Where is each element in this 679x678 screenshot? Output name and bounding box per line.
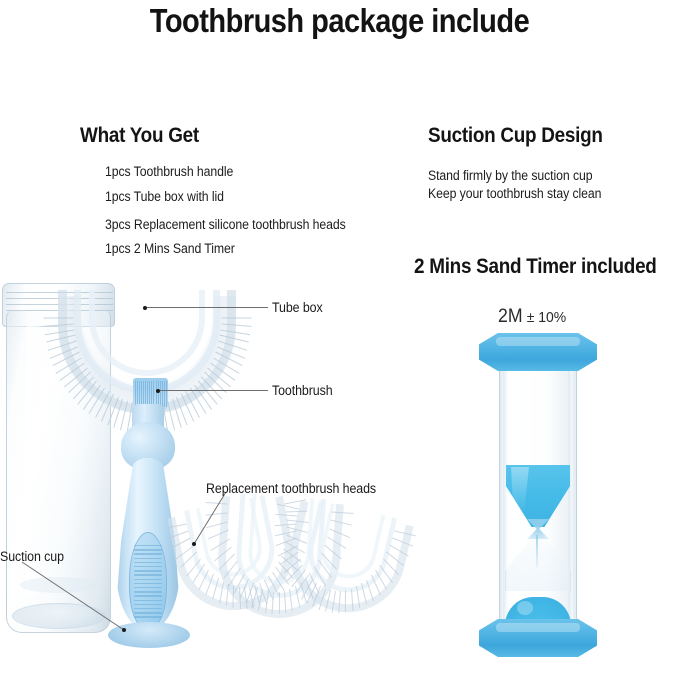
what-you-get-heading: What You Get <box>80 124 199 148</box>
sand-timer-spec-value: 2M <box>498 306 523 327</box>
what-you-get-item-3: 3pcs Replacement silicone toothbrush hea… <box>105 217 346 232</box>
hourglass-sand-stream <box>536 535 538 567</box>
what-you-get-item-2: 1pcs Tube box with lid <box>105 189 224 204</box>
hourglass-bottom-cap <box>479 619 597 657</box>
what-you-get-item-1: 1pcs Toothbrush handle <box>105 164 233 179</box>
callout-label-toothbrush: Toothbrush <box>272 383 333 398</box>
handle-grip <box>129 532 167 628</box>
callout-label-tube-box: Tube box <box>272 300 323 315</box>
product-infographic: Toothbrush package include What You Get … <box>0 0 679 678</box>
suction-cup-design-line-2: Keep your toothbrush stay clean <box>428 186 601 201</box>
callout-dot-replacement-heads <box>192 542 196 546</box>
sand-timer-heading: 2 Mins Sand Timer included <box>414 255 657 279</box>
callout-label-suction-cup: Suction cup <box>0 549 64 564</box>
callout-line-toothbrush <box>160 390 268 391</box>
page-title: Toothbrush package include <box>41 2 639 40</box>
hourglass-top-cap <box>479 333 597 371</box>
what-you-get-item-4: 1pcs 2 Mins Sand Timer <box>105 241 235 256</box>
callout-line-tube-box <box>147 307 268 308</box>
callout-dot-suction-cup <box>122 628 126 632</box>
sand-timer-spec: 2M ± 10% <box>498 306 566 328</box>
suction-cup-design-line-1: Stand firmly by the suction cup <box>428 168 592 183</box>
callout-line-replacement-heads <box>190 490 230 548</box>
sand-timer-product <box>479 333 597 657</box>
u-shaped-brush-head <box>58 296 236 418</box>
callout-line-suction-cup <box>20 560 130 634</box>
sand-timer-spec-tolerance: ± 10% <box>527 309 566 326</box>
suction-cup-design-heading: Suction Cup Design <box>428 124 603 148</box>
callout-label-replacement-heads: Replacement toothbrush heads <box>206 481 376 496</box>
